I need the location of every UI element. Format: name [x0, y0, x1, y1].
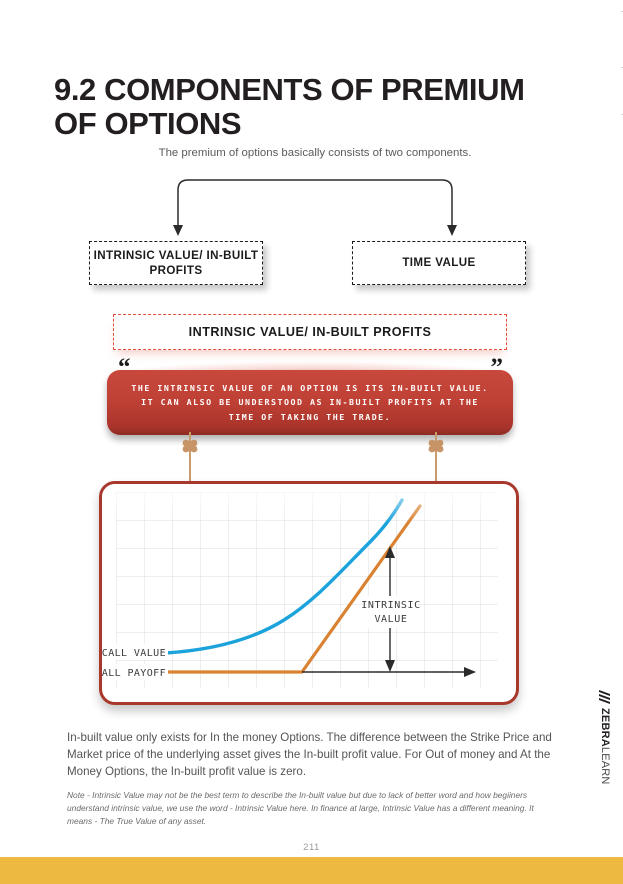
intrinsic-value-annotation-line1: INTRINSIC	[361, 600, 421, 611]
brand-name-light: LEARN	[599, 747, 611, 785]
intro-text: The premium of options basically consist…	[150, 146, 480, 162]
brand-logo: ZEBRALEARN	[600, 692, 622, 788]
call-payoff-label: CALL PAYOFF	[102, 668, 166, 679]
body-paragraph: In-built value only exists for In the mo…	[67, 730, 559, 780]
branch-connector	[160, 176, 470, 238]
payoff-chart: INTRINSIC VALUE CALL VALUE CALL PAYOFF	[102, 484, 510, 696]
page-number: 211	[0, 842, 623, 853]
brand-name: ZEBRALEARN	[599, 708, 611, 785]
component-box-time-value-label: TIME VALUE	[402, 255, 475, 270]
page-title: 9.2 COMPONENTS OF PREMIUM OF OPTIONS	[54, 73, 574, 142]
payoff-chart-card: INTRINSIC VALUE CALL VALUE CALL PAYOFF	[99, 481, 519, 705]
section-header: INTRINSIC VALUE/ IN-BUILT PROFITS	[113, 314, 507, 350]
zebra-stripes-icon	[600, 692, 611, 704]
component-box-intrinsic-value-label: INTRINSIC VALUE/ IN-BUILT PROFITS	[90, 248, 262, 279]
component-box-time-value[interactable]: TIME VALUE	[352, 241, 526, 285]
document-page: 9.2 COMPONENTS OF PREMIUM OF OPTIONS The…	[0, 0, 623, 884]
brand-name-bold: ZEBRA	[599, 708, 611, 747]
intrinsic-value-annotation-line2: VALUE	[374, 614, 407, 625]
footer-bar	[0, 857, 623, 884]
component-box-intrinsic-value[interactable]: INTRINSIC VALUE/ IN-BUILT PROFITS	[89, 241, 263, 285]
quote-box: THE INTRINSIC VALUE OF AN OPTION IS ITS …	[107, 370, 513, 435]
quote-text: THE INTRINSIC VALUE OF AN OPTION IS ITS …	[107, 381, 513, 425]
body-note: Note - Intrinsic Value may not be the be…	[67, 789, 559, 828]
section-header-label: INTRINSIC VALUE/ IN-BUILT PROFITS	[189, 325, 432, 339]
rope-hangers	[100, 432, 520, 484]
call-value-label: CALL VALUE	[102, 648, 166, 659]
